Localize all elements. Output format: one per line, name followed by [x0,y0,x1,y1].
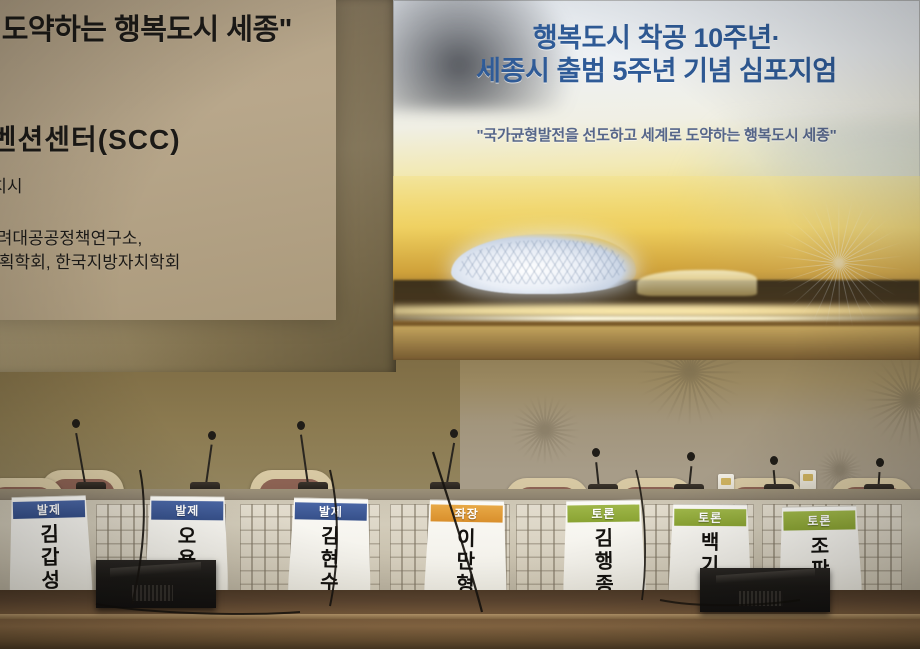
city-secondary-roof [637,270,757,296]
nameplate-name-char: 만 [456,551,475,574]
nameplate-name-char: 조 [810,536,829,559]
banner-title-line-1: 행복도시 착공 10주년· [393,22,920,55]
banner-title-line-2: 세종시 출범 5주년 기념 심포지엄 [393,55,920,88]
nameplate-name-char: 김 [594,528,613,551]
banner-title: 행복도시 착공 10주년· 세종시 출범 5주년 기념 심포지엄 [393,22,920,88]
left-projection-screen: 로 로 도약하는 행복도시 세종" 컨벤션센터(SCC) 별자치시 념, 고려대… [0,0,336,320]
nameplate-role-banner: 발제 [151,501,223,521]
left-screen-line-1: 별자치시 [0,172,23,197]
nameplate: 토론김행종세명대학교 [561,499,646,604]
left-screen-venue: 컨벤션센터(SCC) [0,118,181,158]
nameplate-name: 김행종 [594,528,613,597]
left-screen-line-3: 도시계획학회, 한국지방자치학회 [0,248,180,273]
symposium-stage-photo: 로 로 도약하는 행복도시 세종" 컨벤션센터(SCC) 별자치시 념, 고려대… [0,0,920,649]
nameplate-name-char: 김 [40,524,59,547]
floor-monitor-speaker-left [96,560,216,608]
nameplate-name-char: 김 [321,526,340,549]
stage-edge [0,614,920,619]
nameplate-role-banner: 발제 [295,502,367,521]
nameplate-name: 김갑성 [40,524,60,593]
symposium-banner: 행복도시 착공 10주년· 세종시 출범 5주년 기념 심포지엄 "국가균형발전… [393,0,920,360]
nameplate-name-char: 이 [457,528,476,551]
nameplate-name-char: 현 [320,549,339,572]
nameplate-name-char: 오 [178,526,197,549]
banner-subtitle: "국가균형발전을 선도하고 세계로 도약하는 행복도시 세종" [393,124,920,145]
left-screen-line-2: 념, 고려대공공정책연구소, [0,224,142,249]
banner-sunburst-icon [764,188,914,338]
nameplate-role-banner: 토론 [783,510,855,530]
nameplate-name: 김현수 [320,526,340,595]
floor-monitor-speaker-right [700,568,830,612]
nameplate-role-banner: 토론 [567,505,639,523]
nameplate-name: 이만형 [456,528,476,597]
nameplate: 발제김갑성연세대학교 [7,495,94,603]
nameplate-role-banner: 발제 [13,500,85,519]
left-screen-quote: 로 도약하는 행복도시 세종" [0,6,292,48]
nameplate-name-char: 행 [595,551,614,574]
nameplate-role-banner: 토론 [674,509,746,527]
nameplate-name-char: 갑 [41,547,60,570]
nameplate: 발제김현수단국대학교 [287,497,373,605]
nameplate-role-banner: 좌장 [431,504,503,522]
nameplate-name-char: 백 [701,532,720,555]
